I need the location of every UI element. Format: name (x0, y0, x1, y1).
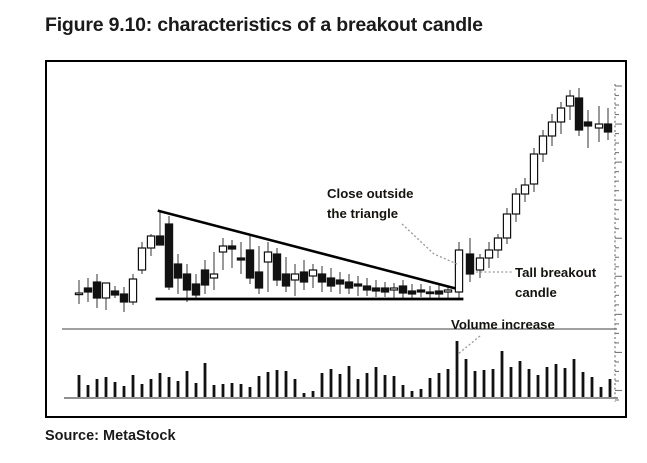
volume-bar (564, 368, 567, 397)
candle (75, 280, 82, 304)
annotation-close-outside-line1: Close outside (327, 186, 413, 201)
volume-bar (195, 383, 198, 397)
candle (93, 274, 100, 308)
candle (399, 280, 406, 298)
chart-frame: Close outside the triangle Tall breakout… (45, 60, 627, 418)
volume-bar (78, 375, 81, 397)
candle (595, 106, 602, 142)
candle (237, 242, 244, 274)
candle (512, 188, 519, 222)
candle (165, 216, 172, 290)
volume-bar (537, 375, 540, 397)
volume-bar (438, 373, 441, 397)
candle (476, 254, 483, 278)
volume-bar (384, 375, 387, 397)
volume-bar (330, 369, 333, 397)
candle (363, 278, 370, 296)
candle (120, 287, 127, 312)
volume-bar (150, 379, 153, 397)
close-outside-leader (402, 224, 457, 264)
volume-bar (240, 384, 243, 397)
volume-bar (348, 366, 351, 397)
candle (390, 283, 397, 298)
candlestick-chart: Close outside the triangle Tall breakout… (47, 62, 625, 416)
annotation-tall-breakout-line1: Tall breakout (515, 265, 597, 280)
volume-bar (411, 391, 414, 397)
candle (584, 110, 591, 148)
candle (494, 234, 501, 258)
candle (604, 108, 611, 140)
volume-bar (474, 371, 477, 397)
volume-bar (168, 377, 171, 397)
source-caption: Source: MetaStock (45, 428, 176, 444)
candle (201, 260, 208, 294)
candle (183, 264, 190, 302)
candle (318, 266, 325, 292)
candle (381, 282, 388, 297)
volume-bar (609, 379, 612, 397)
volume-bar (447, 369, 450, 397)
volume-bar (123, 386, 126, 397)
candle (111, 286, 118, 298)
candle (129, 274, 136, 305)
candle (327, 268, 334, 292)
candle (345, 274, 352, 294)
volume-bar (159, 373, 162, 397)
volume-bar (339, 374, 342, 397)
volume-bar (132, 375, 135, 397)
volume-bar (501, 351, 504, 397)
candle (210, 252, 217, 290)
volume-bar (465, 359, 468, 397)
volume-bar (249, 387, 252, 397)
candle (156, 211, 163, 245)
candle (521, 178, 528, 202)
volume-bar (213, 385, 216, 397)
candle (291, 264, 298, 296)
volume-bar (204, 363, 207, 397)
price-axis (615, 84, 622, 402)
volume-bar (294, 379, 297, 397)
volume-bar (492, 369, 495, 397)
candle (102, 283, 109, 310)
candle (336, 272, 343, 294)
volume-bar (141, 384, 144, 397)
candle (246, 234, 253, 284)
volume-bar (546, 367, 549, 397)
volume-bar (303, 393, 306, 397)
volume-bar (393, 376, 396, 397)
volume-bar (600, 387, 603, 397)
candle (455, 242, 462, 300)
annotation-tall-breakout-line2: candle (515, 285, 557, 300)
volume-bar (591, 377, 594, 397)
volume-bar (510, 367, 513, 397)
candle (84, 278, 91, 302)
volume-bar (366, 373, 369, 397)
volume-increase-leader (458, 336, 480, 354)
candle (228, 240, 235, 268)
candle (485, 242, 492, 268)
volume-bar (375, 367, 378, 397)
volume-bar (582, 372, 585, 397)
candle (174, 254, 181, 294)
candle (264, 242, 271, 292)
volume-bar (114, 382, 117, 397)
annotation-close-outside-line2: the triangle (327, 206, 398, 221)
candle (435, 285, 442, 298)
volume-bar (528, 369, 531, 397)
candle (566, 90, 573, 120)
candle (282, 257, 289, 292)
volume-bar (231, 383, 234, 397)
volume-bars (78, 341, 612, 397)
candle (503, 208, 510, 244)
volume-bar (87, 385, 90, 397)
volume-bar (276, 370, 279, 397)
candle (219, 238, 226, 270)
candle (138, 242, 145, 274)
volume-bar (258, 376, 261, 397)
page-title: Figure 9.10: characteristics of a breako… (45, 14, 483, 37)
candle (255, 246, 262, 294)
volume-bar (420, 389, 423, 397)
candle (539, 130, 546, 162)
candle (408, 284, 415, 298)
volume-bar (429, 378, 432, 397)
annotation-volume-increase: Volume increase (451, 317, 555, 332)
volume-bar (555, 364, 558, 397)
volume-bar (177, 381, 180, 397)
volume-bar (267, 372, 270, 397)
volume-bar (285, 371, 288, 397)
volume-bar (573, 359, 576, 397)
volume-bar (402, 385, 405, 397)
candle (300, 260, 307, 290)
volume-bar (483, 370, 486, 397)
candle (530, 148, 537, 192)
candle (426, 286, 433, 298)
candle (575, 88, 582, 136)
volume-bar (321, 373, 324, 397)
volume-bar (357, 379, 360, 397)
candle (354, 276, 361, 296)
candle (147, 234, 154, 256)
candle (548, 114, 555, 146)
candle (557, 102, 564, 134)
candle (309, 264, 316, 288)
volume-bar (186, 371, 189, 397)
candle (466, 238, 473, 282)
candle (273, 248, 280, 286)
volume-bar (105, 377, 108, 397)
volume-bar (312, 391, 315, 397)
candle (417, 284, 424, 297)
candle (192, 274, 199, 300)
volume-bar (519, 361, 522, 397)
volume-bar (96, 379, 99, 397)
candle (372, 280, 379, 297)
volume-bar (222, 384, 225, 397)
volume-bar (456, 341, 459, 397)
